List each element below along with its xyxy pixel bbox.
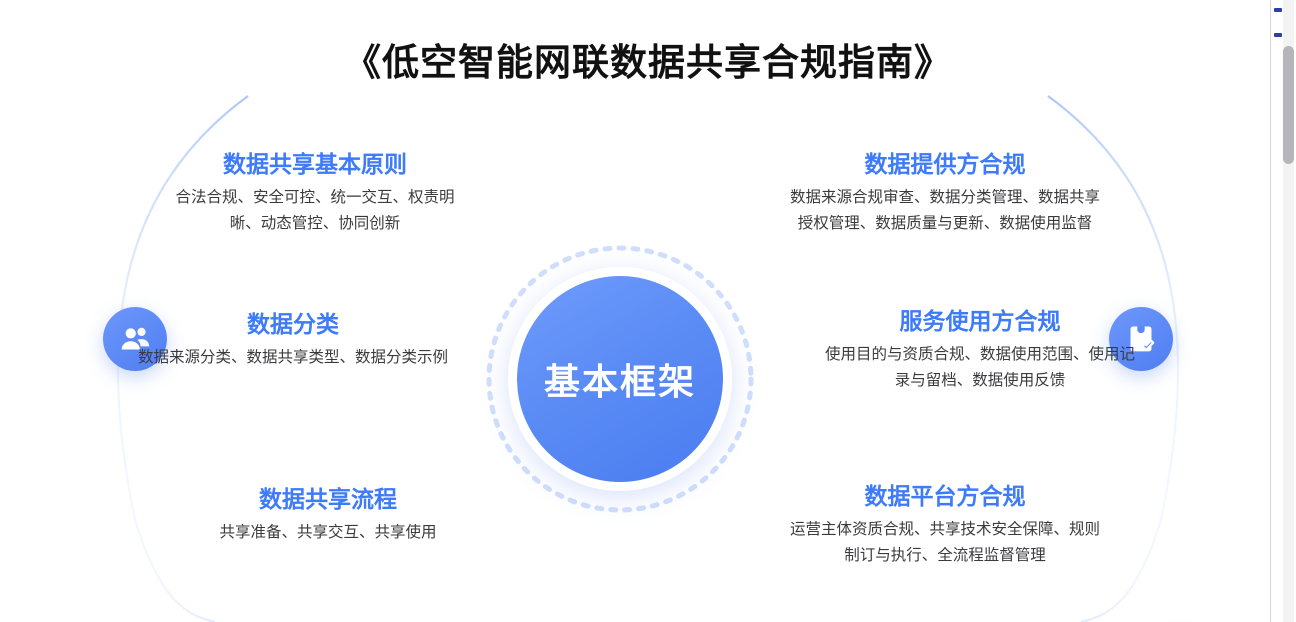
- item-body: 共享准备、共享交互、共享使用: [168, 520, 488, 547]
- item-body: 数据来源分类、数据共享类型、数据分类示例: [138, 345, 448, 372]
- item-text-block: 数据平台方合规 运营主体资质合规、共享技术安全保障、规则制订与执行、全流程监督管…: [790, 482, 1100, 570]
- edge-marker-middle: [1274, 33, 1282, 37]
- item-heading: 数据共享基本原则: [170, 150, 460, 179]
- item-heading: 数据分类: [138, 310, 448, 339]
- scrollbar-thumb[interactable]: [1283, 46, 1294, 164]
- infographic-canvas: 《低空智能网联数据共享合规指南》 基本框架 数据共享基本原则 合法: [0, 0, 1296, 622]
- item-text-block: 数据共享基本原则 合法合规、安全可控、统一交互、权责明晰、动态管控、协同创新: [170, 150, 460, 238]
- item-body: 使用目的与资质合规、数据使用范围、使用记录与留档、数据使用反馈: [825, 342, 1135, 395]
- item-heading: 数据平台方合规: [790, 482, 1100, 511]
- item-body: 合法合规、安全可控、统一交互、权责明晰、动态管控、协同创新: [170, 185, 460, 238]
- item-heading: 数据共享流程: [168, 485, 488, 514]
- item-text-block: 服务使用方合规 使用目的与资质合规、数据使用范围、使用记录与留档、数据使用反馈: [825, 307, 1135, 395]
- center-hub: 基本框架: [484, 243, 756, 515]
- item-text-block: 数据分类 数据来源分类、数据共享类型、数据分类示例: [138, 310, 448, 371]
- item-heading: 数据提供方合规: [790, 150, 1100, 179]
- page-title: 《低空智能网联数据共享合规指南》: [0, 32, 1296, 86]
- item-body: 运营主体资质合规、共享技术安全保障、规则制订与执行、全流程监督管理: [790, 517, 1100, 570]
- item-text-block: 数据提供方合规 数据来源合规审查、数据分类管理、数据共享授权管理、数据质量与更新…: [790, 150, 1100, 238]
- browser-edge-strip: [1270, 0, 1296, 622]
- item-heading: 服务使用方合规: [825, 307, 1135, 336]
- hub-label: 基本框架: [544, 353, 696, 405]
- edge-marker-top: [1274, 8, 1282, 12]
- item-body: 数据来源合规审查、数据分类管理、数据共享授权管理、数据质量与更新、数据使用监督: [790, 185, 1100, 238]
- hub-circle: 基本框架: [517, 276, 723, 482]
- item-text-block: 数据共享流程 共享准备、共享交互、共享使用: [168, 485, 488, 546]
